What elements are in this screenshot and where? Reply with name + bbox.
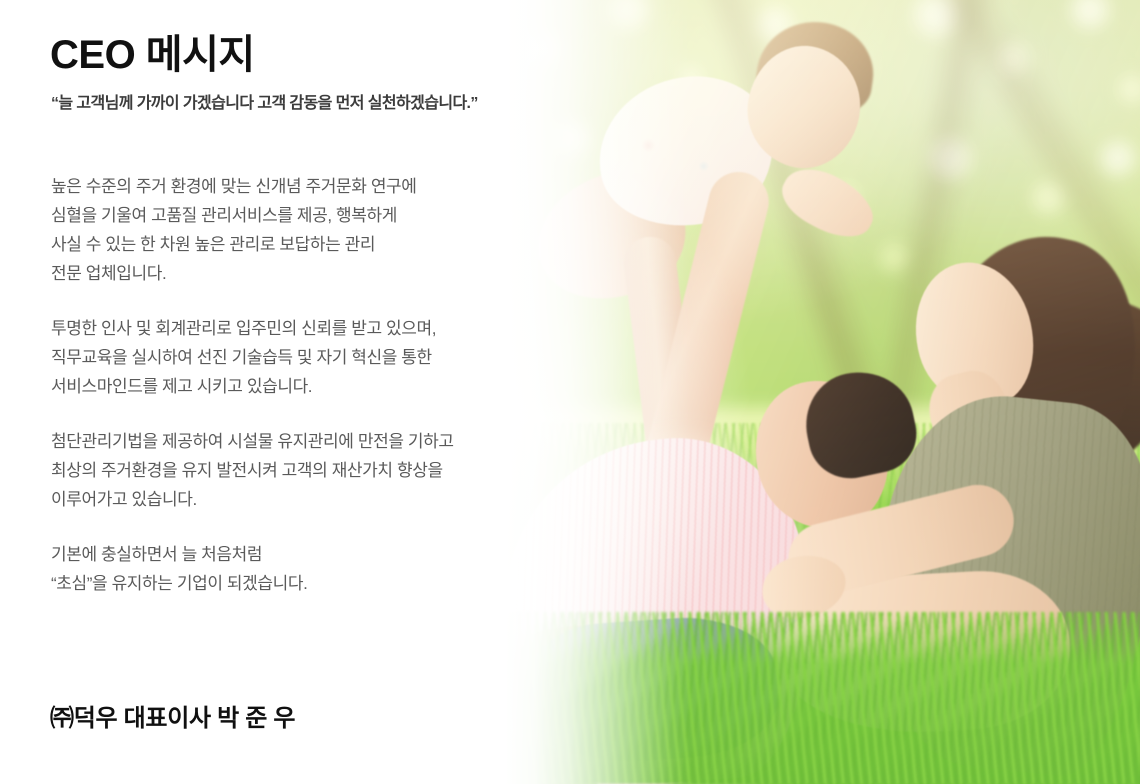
message-content: CEO 메시지 “늘 고객님께 가까이 가겠습니다 고객 감동을 먼저 실천하겠… [50,0,520,784]
message-paragraph: 투명한 인사 및 회계관리로 입주민의 신뢰를 받고 있으며, 직무교육을 실시… [51,314,519,401]
photo-background [480,0,1140,784]
page-subtitle: “늘 고객님께 가까이 가겠습니다 고객 감동을 먼저 실천하겠습니다.” [51,89,478,113]
family-photo [480,0,1140,784]
message-paragraph: 높은 수준의 주거 환경에 맞는 신개념 주거문화 연구에 심혈을 기울여 고품… [51,172,519,288]
foreground-grass [480,612,1140,784]
message-body: 높은 수준의 주거 환경에 맞는 신개념 주거문화 연구에 심혈을 기울여 고품… [51,172,519,598]
message-paragraph: 기본에 충실하면서 늘 처음처럼 “초심”을 유지하는 기업이 되겠습니다. [51,540,519,598]
ceo-message-page: CEO 메시지 “늘 고객님께 가까이 가겠습니다 고객 감동을 먼저 실천하겠… [0,0,1140,784]
ceo-signature: ㈜덕우 대표이사 박 준 우 [50,698,295,733]
page-title: CEO 메시지 [50,33,255,77]
baby-arm [773,157,883,250]
message-paragraph: 첨단관리기법을 제공하여 시설물 유지관리에 만전을 기하고 최상의 주거환경을… [51,427,519,514]
